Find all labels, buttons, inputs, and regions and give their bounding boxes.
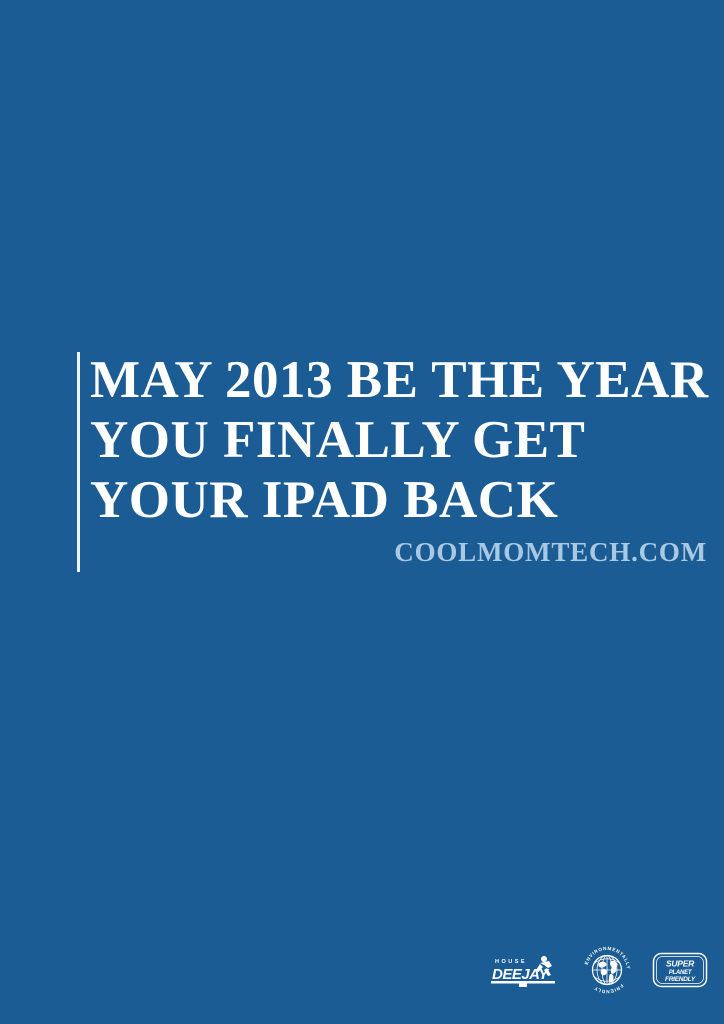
logo-row: HOUSE DEEJAY ENVIRONMENTALLY [488, 946, 708, 994]
poster-canvas: MAY 2013 BE THE YEAR YOU FINALLY GET YOU… [0, 0, 724, 1024]
svg-text:PLANET: PLANET [669, 970, 693, 976]
svg-text:SUPER: SUPER [666, 959, 695, 969]
environmentally-friendly-globe-logo: ENVIRONMENTALLY FRIENDLY [581, 944, 633, 996]
super-friendly-badge-logo: SUPER PLANET FRIENDLY [652, 952, 708, 988]
svg-text:HOUSE: HOUSE [495, 959, 527, 965]
site-url: COOLMOMTECH.COM [77, 536, 707, 568]
headline-line-1: MAY 2013 BE THE YEAR [90, 350, 697, 410]
svg-text:FRIENDLY: FRIENDLY [665, 976, 696, 983]
headline-block: MAY 2013 BE THE YEAR YOU FINALLY GET YOU… [77, 350, 697, 530]
svg-text:DEEJAY: DEEJAY [492, 966, 550, 983]
house-deejay-logo: HOUSE DEEJAY [488, 953, 562, 987]
svg-text:ENVIRONMENTALLY: ENVIRONMENTALLY [584, 946, 631, 970]
headline-line-2: YOU FINALLY GET [90, 410, 697, 470]
headline-line-3: YOUR IPAD BACK [90, 470, 697, 530]
headline: MAY 2013 BE THE YEAR YOU FINALLY GET YOU… [90, 350, 697, 530]
